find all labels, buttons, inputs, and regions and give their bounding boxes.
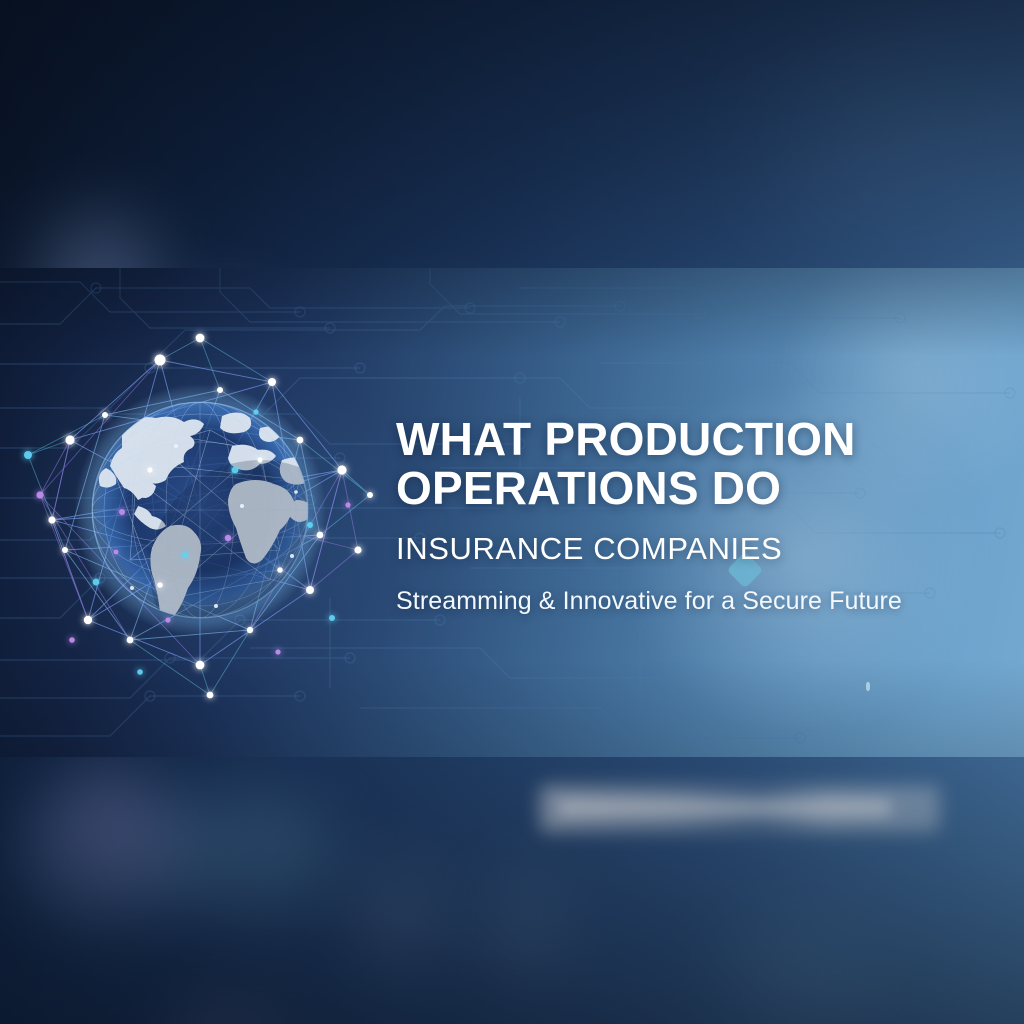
globe-network-svg [10, 320, 390, 710]
headline-line-2: OPERATIONS DO [396, 464, 996, 513]
tagline: Streamming & Innovative for a Secure Fut… [396, 584, 996, 618]
headline-line-1: WHAT PRODUCTION [396, 415, 996, 464]
subheadline: INSURANCE COMPANIES [396, 529, 996, 569]
banner-text-block: WHAT PRODUCTION OPERATIONS DO INSURANCE … [396, 415, 996, 618]
globe-network-illustration [10, 320, 390, 710]
banner-image-canvas: WHAT PRODUCTION OPERATIONS DO INSURANCE … [0, 0, 1024, 1024]
